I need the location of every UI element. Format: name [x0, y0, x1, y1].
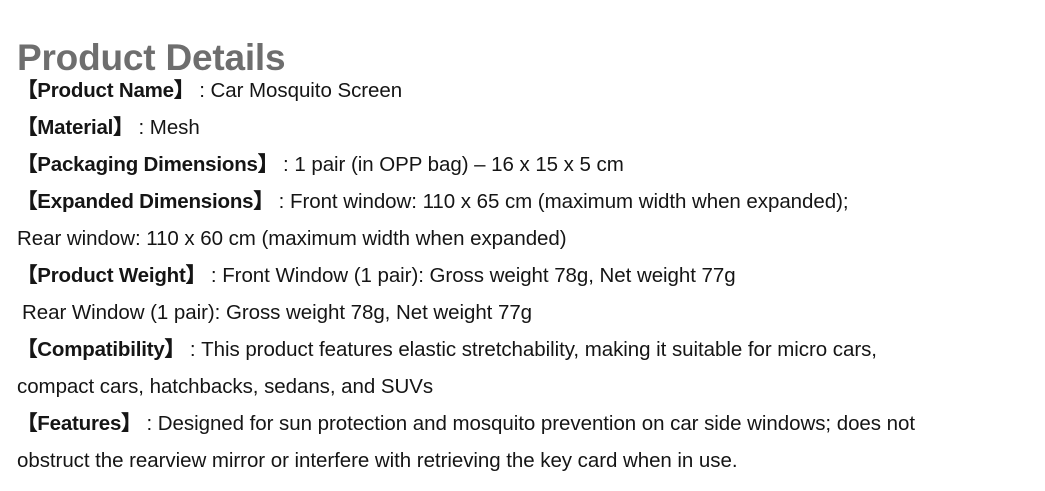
- spec-separator: :: [278, 146, 289, 183]
- spec-value: compact cars, hatchbacks, sedans, and SU…: [17, 375, 433, 398]
- spec-row: 【Product Name】: Car Mosquito Screen: [17, 72, 1037, 109]
- spec-separator: :: [141, 405, 152, 442]
- spec-row: 【Expanded Dimensions】: Front window: 110…: [17, 183, 1037, 220]
- spec-continuation-row: Rear window: 110 x 60 cm (maximum width …: [17, 220, 1037, 257]
- spec-row: 【Features】: Designed for sun protection …: [17, 405, 1037, 442]
- spec-continuation-row: obstruct the rearview mirror or interfer…: [17, 442, 1037, 479]
- spec-value: Rear Window (1 pair): Gross weight 78g, …: [22, 301, 532, 324]
- spec-separator: :: [133, 109, 144, 146]
- spec-row: 【Material】: Mesh: [17, 109, 1037, 146]
- spec-row: 【Packaging Dimensions】: 1 pair (in OPP b…: [17, 146, 1037, 183]
- spec-continuation-row: Rear Window (1 pair): Gross weight 78g, …: [17, 294, 1037, 331]
- spec-label: 【Features】: [17, 412, 141, 435]
- spec-row: 【Compatibility】: This product features e…: [17, 331, 1037, 368]
- spec-label: 【Compatibility】: [17, 338, 185, 361]
- spec-separator: :: [274, 183, 285, 220]
- spec-separator: :: [194, 72, 205, 109]
- spec-value: Car Mosquito Screen: [211, 79, 403, 102]
- spec-value: Mesh: [150, 116, 200, 139]
- spec-label: 【Product Weight】: [17, 264, 206, 287]
- spec-value: This product features elastic stretchabi…: [201, 338, 877, 361]
- spec-value: Front Window (1 pair): Gross weight 78g,…: [222, 264, 735, 287]
- spec-value: Rear window: 110 x 60 cm (maximum width …: [17, 227, 567, 250]
- spec-separator: :: [206, 257, 217, 294]
- spec-separator: :: [185, 331, 196, 368]
- spec-continuation-row: compact cars, hatchbacks, sedans, and SU…: [17, 368, 1037, 405]
- spec-row: 【Product Weight】: Front Window (1 pair):…: [17, 257, 1037, 294]
- spec-label: 【Packaging Dimensions】: [17, 153, 278, 176]
- spec-value: 1 pair (in OPP bag) – 16 x 15 x 5 cm: [294, 153, 623, 176]
- product-details-page: Product Details 【Product Name】: Car Mosq…: [0, 0, 1045, 491]
- spec-label: 【Product Name】: [17, 79, 194, 102]
- spec-value: obstruct the rearview mirror or interfer…: [17, 449, 737, 472]
- product-spec-list: 【Product Name】: Car Mosquito Screen【Mate…: [17, 72, 1037, 479]
- spec-value: Designed for sun protection and mosquito…: [158, 412, 915, 435]
- spec-value: Front window: 110 x 65 cm (maximum width…: [290, 190, 849, 213]
- spec-label: 【Expanded Dimensions】: [17, 190, 274, 213]
- spec-label: 【Material】: [17, 116, 133, 139]
